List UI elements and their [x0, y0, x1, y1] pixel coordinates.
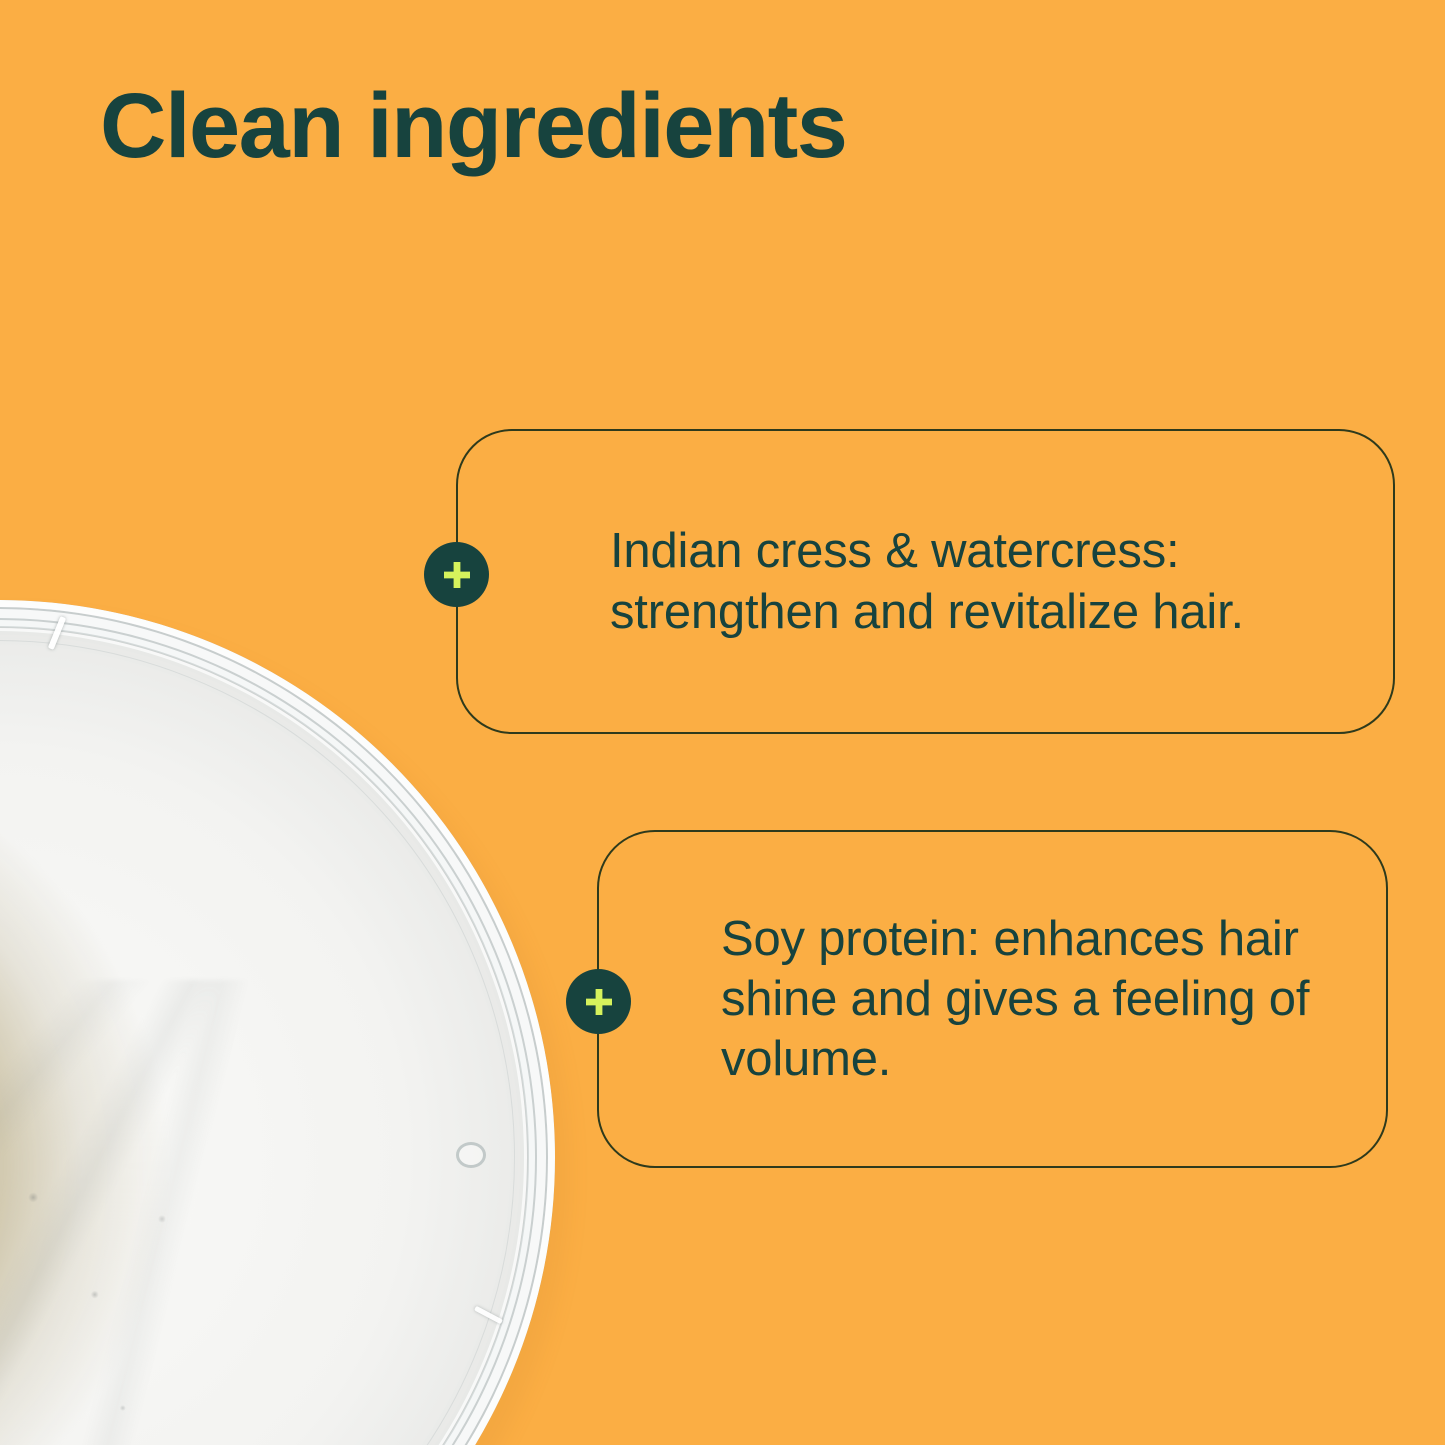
petri-dish-image — [0, 600, 555, 1445]
dish-drop-shadow — [0, 616, 569, 1445]
page-title: Clean ingredients — [100, 78, 846, 175]
ingredient-card-1-text: Indian cress & watercress: strengthen an… — [610, 521, 1355, 642]
dish-rim-notch-top — [48, 616, 66, 650]
plus-icon — [424, 542, 489, 607]
powder-dust-speckles — [0, 1030, 330, 1445]
dish-rim-outer — [0, 600, 555, 1445]
plus-icon — [566, 969, 631, 1034]
dish-rim-notch-right — [474, 1306, 503, 1324]
powder-streaks — [0, 980, 390, 1445]
ingredient-card-1: Indian cress & watercress: strengthen an… — [456, 429, 1395, 734]
powder-texture — [0, 770, 190, 1445]
ingredient-card-2-text: Soy protein: enhances hair shine and giv… — [721, 909, 1361, 1090]
dish-glass — [0, 600, 555, 1445]
dish-rim-inner-2 — [0, 640, 515, 1445]
dish-glass-bubble — [456, 1142, 486, 1168]
ingredient-card-2: Soy protein: enhances hair shine and giv… — [597, 830, 1388, 1168]
powder-mound — [0, 770, 190, 1445]
dish-rim-inner — [0, 626, 529, 1445]
